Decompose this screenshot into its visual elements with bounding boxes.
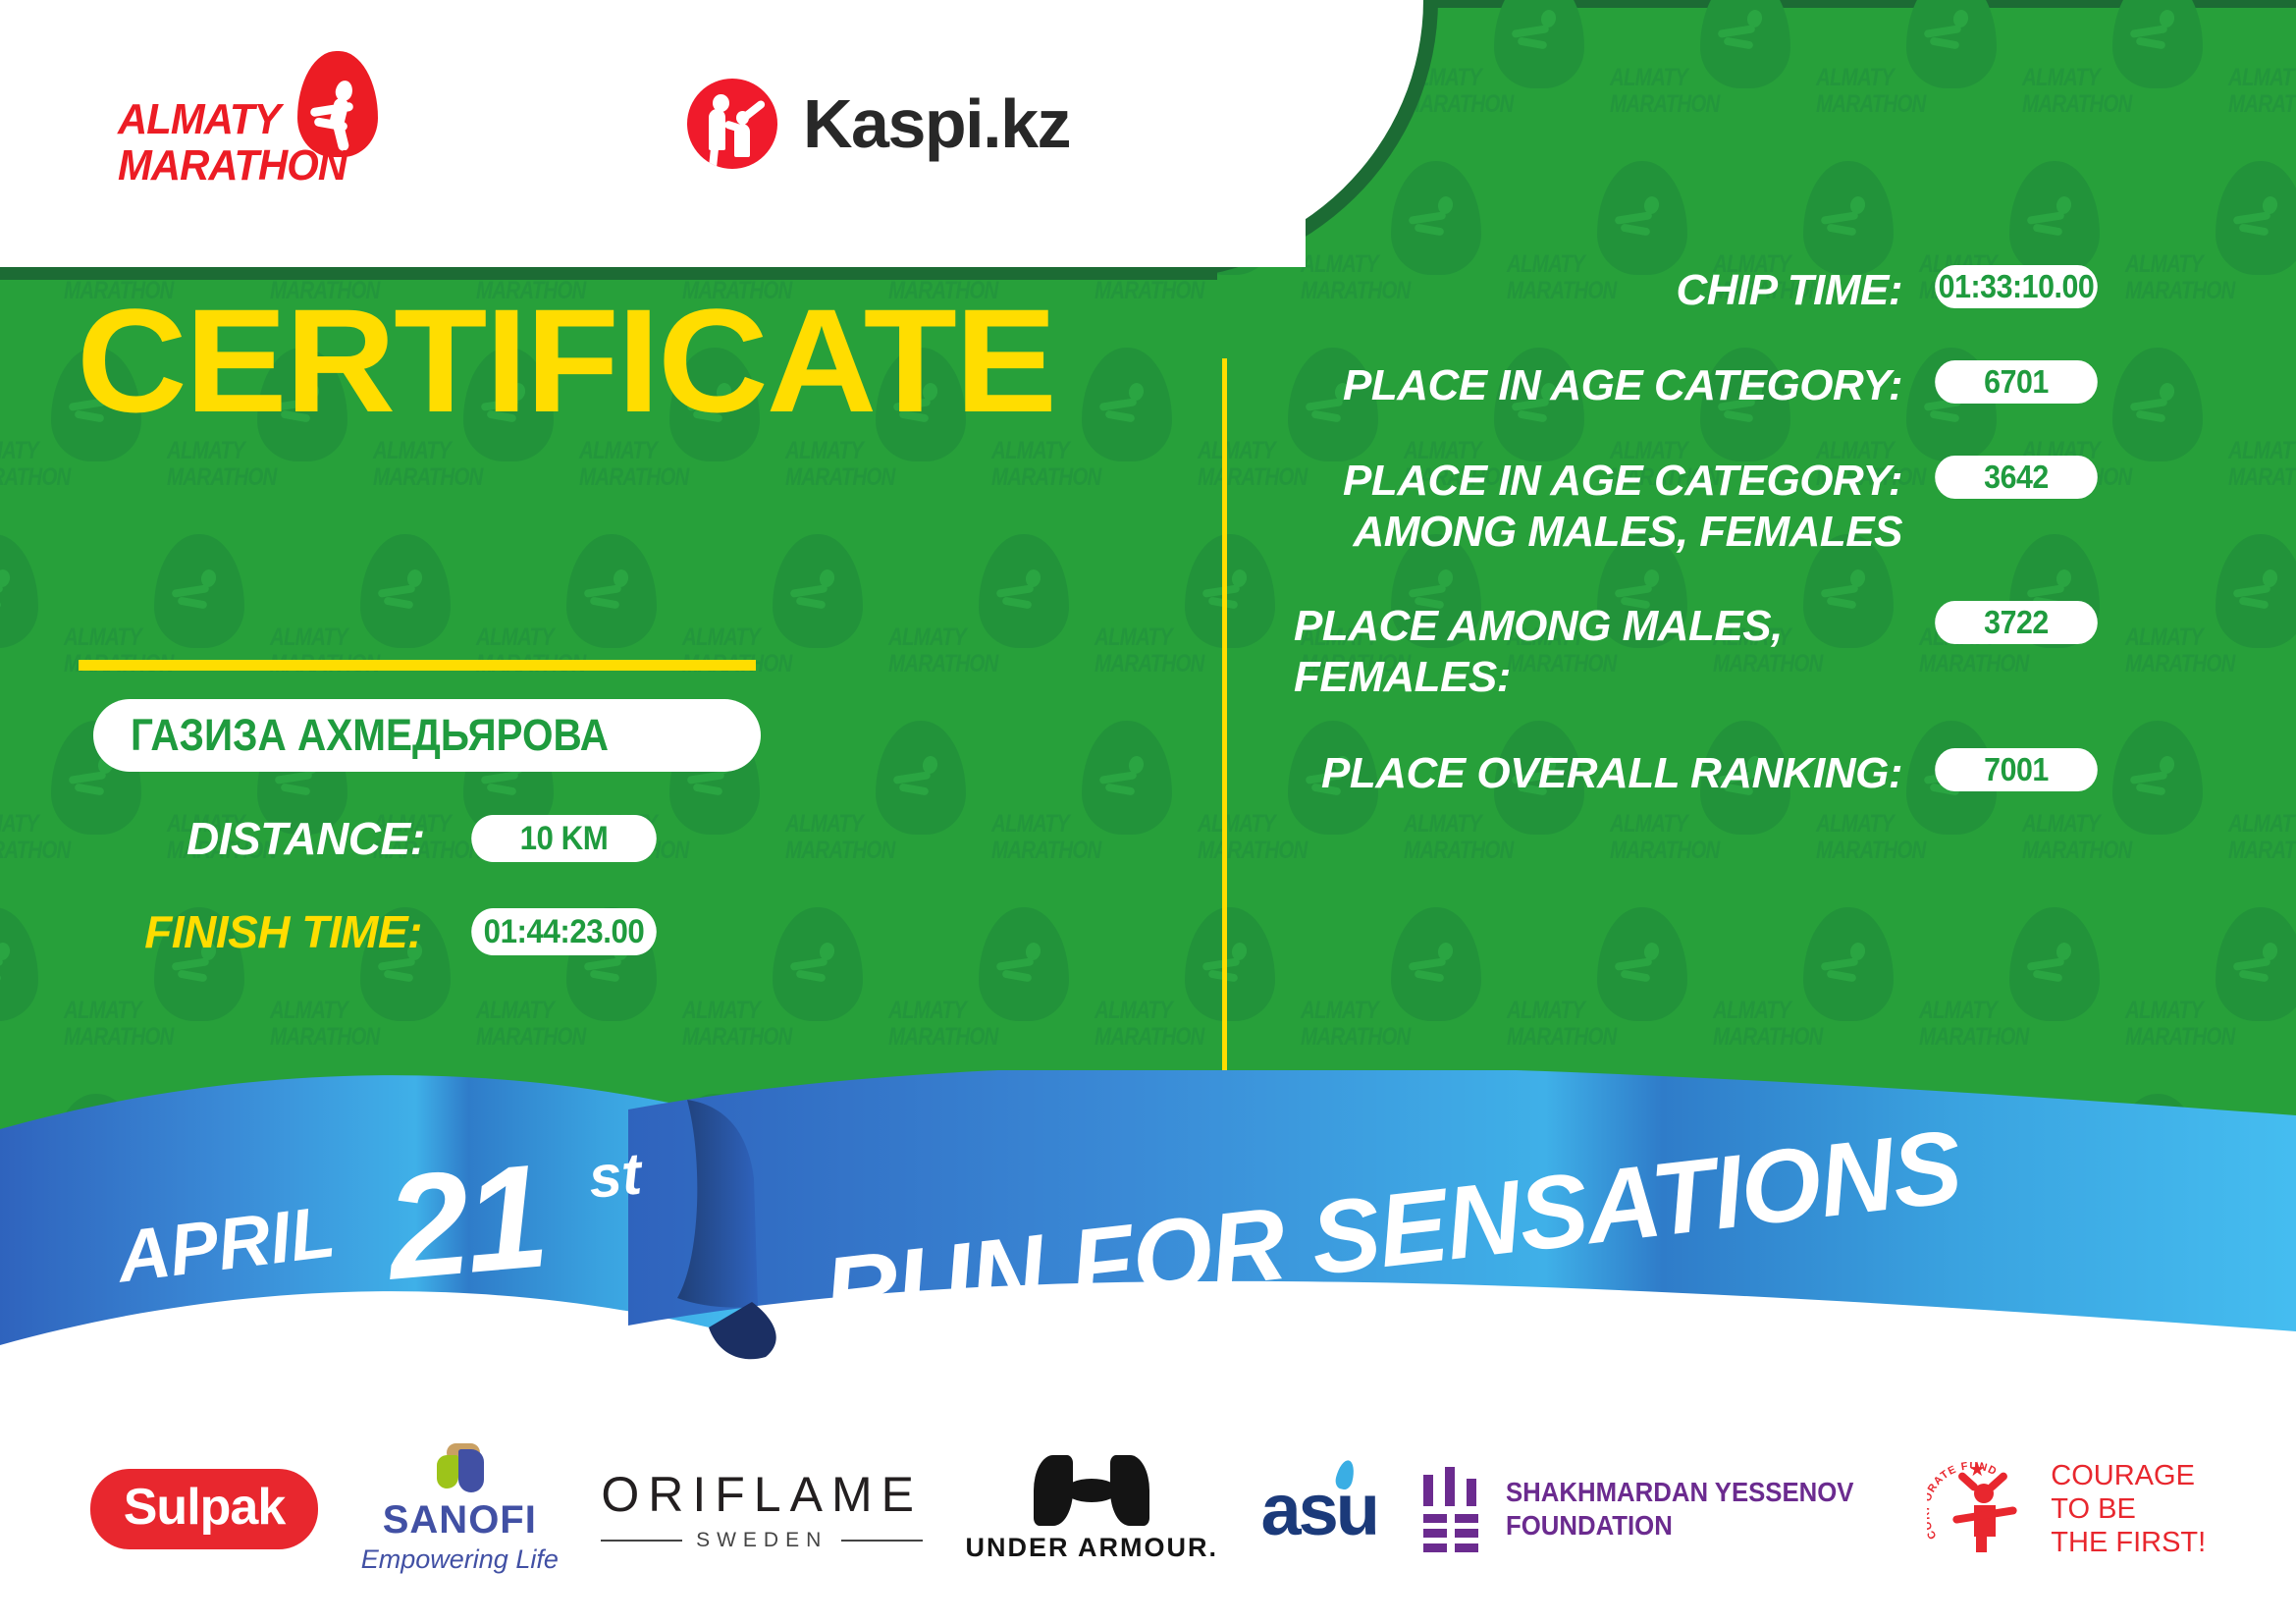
under-armour-wordmark: UNDER ARMOUR. <box>965 1533 1218 1563</box>
courage-to-be-the-first-logo: CORPORATE FUND ★ COURAGE TO BE THE FIRST… <box>1927 1458 2206 1560</box>
ribbon-day: 21 <box>380 1130 550 1313</box>
sponsor-asu[interactable]: asu <box>1260 1468 1377 1551</box>
almaty-marathon-logo[interactable]: ALMATY MARATHON <box>118 51 442 189</box>
finish-time-label: FINISH TIME: <box>137 905 422 958</box>
oriflame-rule-left <box>601 1540 682 1542</box>
sponsor-strip: Sulpak SANOFI Empowering Life ORIFLAME S… <box>0 1394 2296 1624</box>
sponsor-sulpak[interactable]: Sulpak <box>90 1469 319 1549</box>
stat-row: CHIP TIME: 01:33:10.00 <box>1294 265 2105 316</box>
page-title: CERTIFICATE <box>77 287 1055 434</box>
corporate-fund-badge: CORPORATE FUND ★ <box>1927 1458 2035 1560</box>
stat-row: PLACE IN AGE CATEGORY: AMONG MALES, FEMA… <box>1247 456 2105 558</box>
certificate-page: ALMATYMARATHONALMATYMARATHONALMATYMARATH… <box>0 0 2296 1624</box>
stat-label: PLACE IN AGE CATEGORY: AMONG MALES, FEMA… <box>1247 456 1902 558</box>
almaty-line: ALMATY <box>118 96 360 142</box>
kaspi-people-circle-icon <box>687 79 777 169</box>
kaspi-wordmark: Kaspi.kz <box>803 84 1070 163</box>
stat-value: 7001 <box>1935 748 2098 791</box>
sponsor-yessenov[interactable]: SHAKHMARDAN YESSENOV FOUNDATION <box>1419 1467 1884 1551</box>
stat-row: PLACE IN AGE CATEGORY: 6701 <box>1247 360 2105 411</box>
oriflame-rule-right <box>841 1540 923 1542</box>
oriflame-wordmark: ORIFLAME <box>601 1466 923 1523</box>
participant-name-field: ГАЗИЗА АХМЕДЬЯРОВА <box>93 699 761 772</box>
oriflame-tagline: SWEDEN <box>696 1529 828 1552</box>
finish-time-value: 01:44:23.00 <box>471 908 657 955</box>
star-icon: ★ <box>1968 1460 1986 1480</box>
event-ribbon: APRIL 21 st RUN FOR SENSATIONS <box>0 1070 2296 1394</box>
stat-row: PLACE OVERALL RANKING: 7001 <box>1247 748 2105 799</box>
stat-value: 3722 <box>1935 601 2098 644</box>
title-underline <box>79 660 756 671</box>
stat-label: PLACE OVERALL RANKING: <box>1247 748 1902 799</box>
stat-label: CHIP TIME: <box>1294 265 1902 316</box>
under-armour-logo <box>1034 1455 1149 1526</box>
sanofi-wordmark: SANOFI <box>383 1498 537 1543</box>
stat-value: 01:33:10.00 <box>1935 265 2098 308</box>
yessenov-foundation-logo: SHAKHMARDAN YESSENOV FOUNDATION <box>1419 1467 1884 1551</box>
sponsor-sanofi[interactable]: SANOFI Empowering Life <box>361 1443 559 1575</box>
sponsor-oriflame[interactable]: ORIFLAME SWEDEN <box>601 1466 923 1552</box>
marathon-line: MARATHON <box>118 142 360 189</box>
finish-time-row: FINISH TIME: 01:44:23.00 <box>137 905 665 958</box>
yessenov-bars-icon <box>1419 1467 1484 1551</box>
distance-value: 10 KM <box>471 815 657 862</box>
sanofi-tagline: Empowering Life <box>361 1544 559 1575</box>
courage-runner-icon <box>1956 1472 2015 1552</box>
stats-column: CHIP TIME: 01:33:10.00 PLACE IN AGE CATE… <box>1247 267 2296 1151</box>
distance-row: DISTANCE: 10 KM <box>187 812 665 865</box>
asu-logo: asu <box>1260 1468 1377 1551</box>
oriflame-sub: SWEDEN <box>601 1529 923 1552</box>
sanofi-logo <box>429 1443 490 1494</box>
sponsor-under-armour[interactable]: UNDER ARMOUR. <box>965 1455 1218 1563</box>
distance-label: DISTANCE: <box>187 812 422 865</box>
stat-value: 3642 <box>1935 456 2098 499</box>
kaspi-logo[interactable]: Kaspi.kz <box>687 79 1070 169</box>
stat-value: 6701 <box>1935 360 2098 404</box>
stat-label: PLACE AMONG MALES, FEMALES: <box>1247 601 1902 703</box>
almaty-marathon-wordmark: ALMATY MARATHON <box>118 96 360 189</box>
stat-row: PLACE AMONG MALES, FEMALES: 3722 <box>1247 601 2105 703</box>
left-column: CERTIFICATE ГАЗИЗА АХМЕДЬЯРОВА DISTANCE:… <box>0 267 1217 1151</box>
courage-wordmark: COURAGE TO BE THE FIRST! <box>2051 1459 2206 1559</box>
ribbon-ordinal: st <box>586 1139 644 1211</box>
asu-wordmark: asu <box>1260 1469 1377 1550</box>
sponsor-courage[interactable]: CORPORATE FUND ★ COURAGE TO BE THE FIRST… <box>1927 1458 2206 1560</box>
yessenov-wordmark: SHAKHMARDAN YESSENOV FOUNDATION <box>1506 1476 1854 1543</box>
participant-name: ГАЗИЗА АХМЕДЬЯРОВА <box>131 710 609 761</box>
vertical-divider <box>1222 358 1227 1105</box>
stat-label: PLACE IN AGE CATEGORY: <box>1247 360 1902 411</box>
sulpak-logo: Sulpak <box>90 1469 319 1549</box>
